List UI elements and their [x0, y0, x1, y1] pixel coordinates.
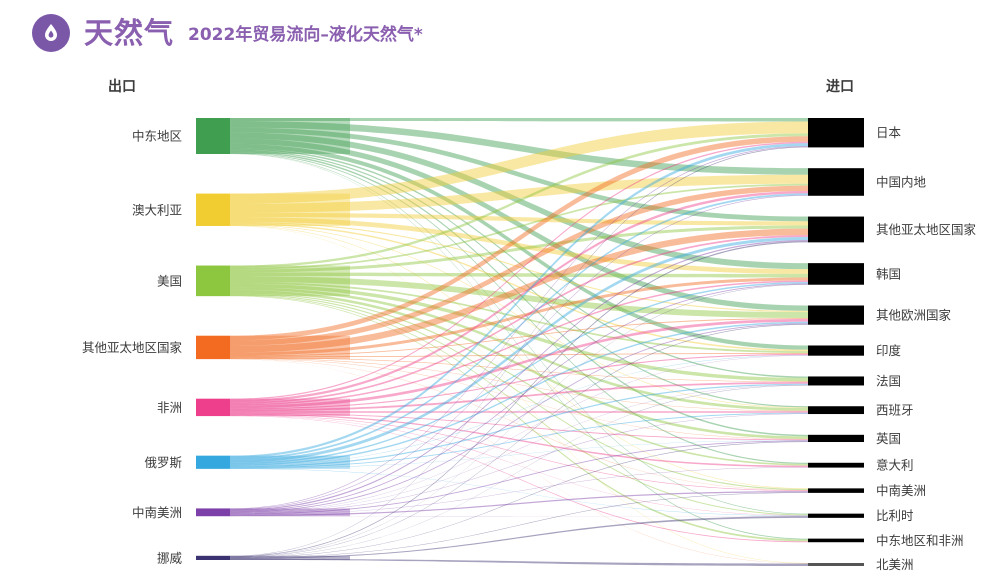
lng-trade-flow-infographic: 天然气 2022年贸易流向–液化天然气* 出口 进口 中东地区澳大利亚美国其他亚… [0, 0, 983, 587]
dest-node-cn[interactable] [808, 168, 864, 196]
dest-label-be: 比利时 [876, 508, 914, 523]
dest-node-be[interactable] [808, 514, 864, 518]
source-node-me[interactable] [196, 118, 230, 154]
sankey-links-layer [230, 118, 808, 566]
dest-node-kr[interactable] [808, 263, 864, 285]
source-node-ru[interactable] [196, 456, 230, 469]
source-label-au: 澳大利亚 [132, 202, 182, 217]
dest-label-fr: 法国 [876, 373, 901, 388]
dest-node-es[interactable] [808, 406, 864, 414]
dest-label-in: 印度 [876, 343, 902, 358]
dest-node-oapac[interactable] [808, 217, 864, 243]
source-node-us[interactable] [196, 266, 230, 297]
sankey-link [230, 118, 808, 122]
source-node-no[interactable] [196, 556, 230, 560]
dest-label-na: 北美洲 [876, 557, 914, 572]
dest-label-jp: 日本 [876, 125, 902, 140]
dest-node-uk[interactable] [808, 435, 864, 442]
sankey-link [230, 559, 808, 566]
source-node-lam[interactable] [196, 508, 230, 516]
dest-label-cn: 中国内地 [876, 174, 927, 189]
sankey-link [230, 411, 808, 413]
sankey-link [230, 492, 808, 558]
dest-node-jp[interactable] [808, 118, 864, 147]
dest-node-oeur[interactable] [808, 306, 864, 325]
source-label-lam: 中南美洲 [132, 505, 182, 520]
sankey-link [230, 416, 808, 542]
dest-label-lam: 中南美洲 [876, 483, 926, 498]
source-label-no: 挪威 [157, 550, 183, 565]
source-label-af: 非洲 [157, 400, 182, 415]
dest-node-na[interactable] [808, 563, 864, 566]
source-label-us: 美国 [157, 273, 182, 288]
source-label-apac: 其他亚太地区国家 [82, 340, 183, 355]
dest-label-oapac: 其他亚太地区国家 [876, 222, 977, 237]
dest-label-es: 西班牙 [876, 403, 914, 418]
dest-label-kr: 韩国 [876, 266, 901, 281]
dest-node-it[interactable] [808, 463, 864, 468]
source-node-au[interactable] [196, 194, 230, 226]
dest-node-in[interactable] [808, 345, 864, 355]
dest-node-fr[interactable] [808, 376, 864, 385]
dest-label-it: 意大利 [876, 458, 914, 473]
source-label-ru: 俄罗斯 [144, 455, 182, 470]
sankey-link [230, 292, 808, 465]
dest-label-oeur: 其他欧洲国家 [876, 308, 952, 323]
source-label-me: 中东地区 [132, 129, 182, 144]
sankey-link [230, 282, 808, 464]
sankey-diagram: 中东地区澳大利亚美国其他亚太地区国家非洲俄罗斯中南美洲挪威日本中国内地其他亚太地… [0, 0, 983, 587]
source-node-af[interactable] [196, 399, 230, 416]
dest-label-mena: 中东地区和非洲 [876, 533, 964, 548]
source-node-apac[interactable] [196, 336, 230, 359]
dest-node-lam[interactable] [808, 488, 864, 493]
dest-label-uk: 英国 [876, 431, 901, 446]
dest-node-mena[interactable] [808, 539, 864, 543]
